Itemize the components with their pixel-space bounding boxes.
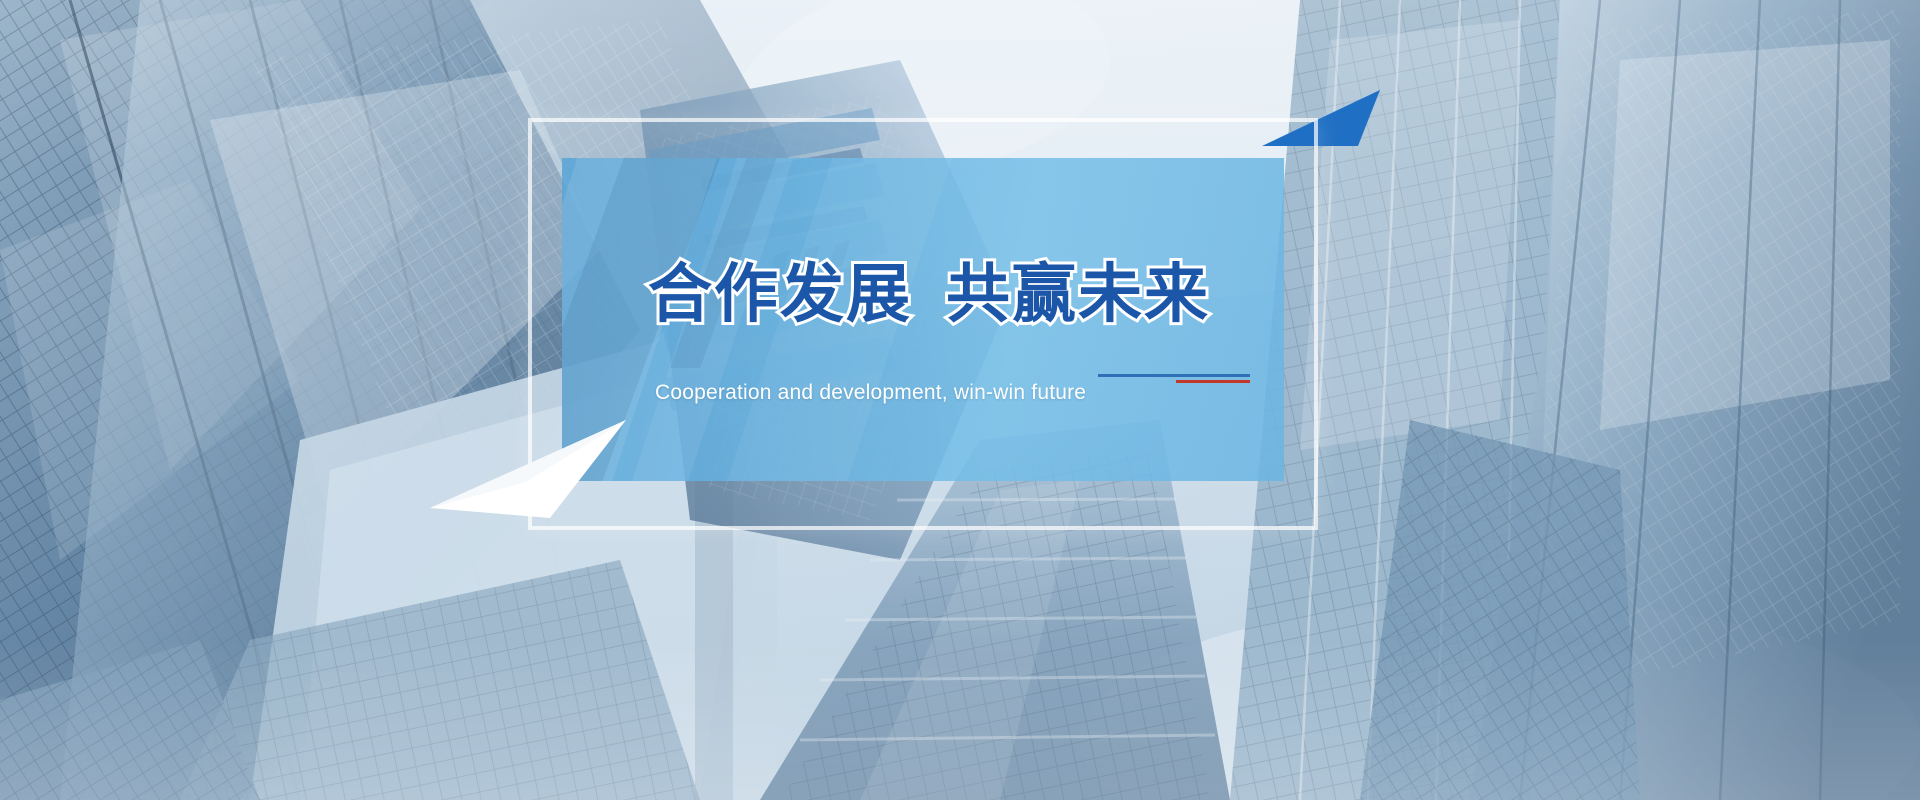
red-underline-rule [1176,380,1250,383]
banner-headline: 合作发展共赢未来 [648,262,1288,326]
headline-part-2: 共赢未来 [946,258,1210,330]
headline-part-1: 合作发展 [648,258,912,330]
blue-underline-rule [1098,374,1250,377]
hero-banner: 合作发展共赢未来 Cooperation and development, wi… [0,0,1920,800]
banner-subtitle: Cooperation and development, win-win fut… [655,381,1086,405]
